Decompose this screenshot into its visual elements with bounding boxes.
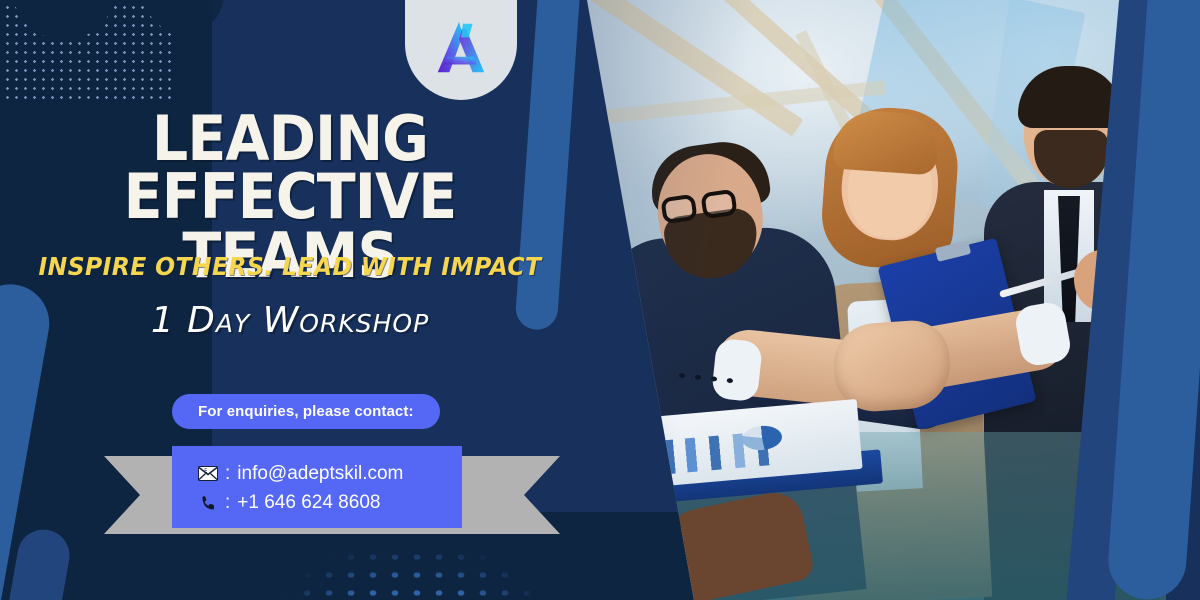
contact-separator: : [225,488,230,517]
envelope-icon: E [198,466,218,481]
contact-card: E : info@adeptskil.com : +1 646 624 8608 [172,446,462,528]
email-address: info@adeptskil.com [237,459,403,488]
event-banner: LEADING EFFECTIVE TEAMS INSPIRE OTHERS. … [0,0,1200,600]
svg-text:E: E [204,469,207,475]
contact-separator: : [225,459,230,488]
workshop-duration: 1 Day Workshop [0,300,580,341]
phone-number: +1 646 624 8608 [237,488,380,517]
phone-icon [198,494,218,513]
title-line-1: LEADING EFFECTIVE [23,110,557,227]
tagline: INSPIRE OTHERS. LEAD WITH IMPACT [17,252,562,281]
enquiries-pill: For enquiries, please contact: [172,394,440,429]
content-column: LEADING EFFECTIVE TEAMS INSPIRE OTHERS. … [0,0,600,600]
contact-row-email[interactable]: E : info@adeptskil.com [198,459,462,488]
contact-row-phone[interactable]: : +1 646 624 8608 [198,488,462,517]
